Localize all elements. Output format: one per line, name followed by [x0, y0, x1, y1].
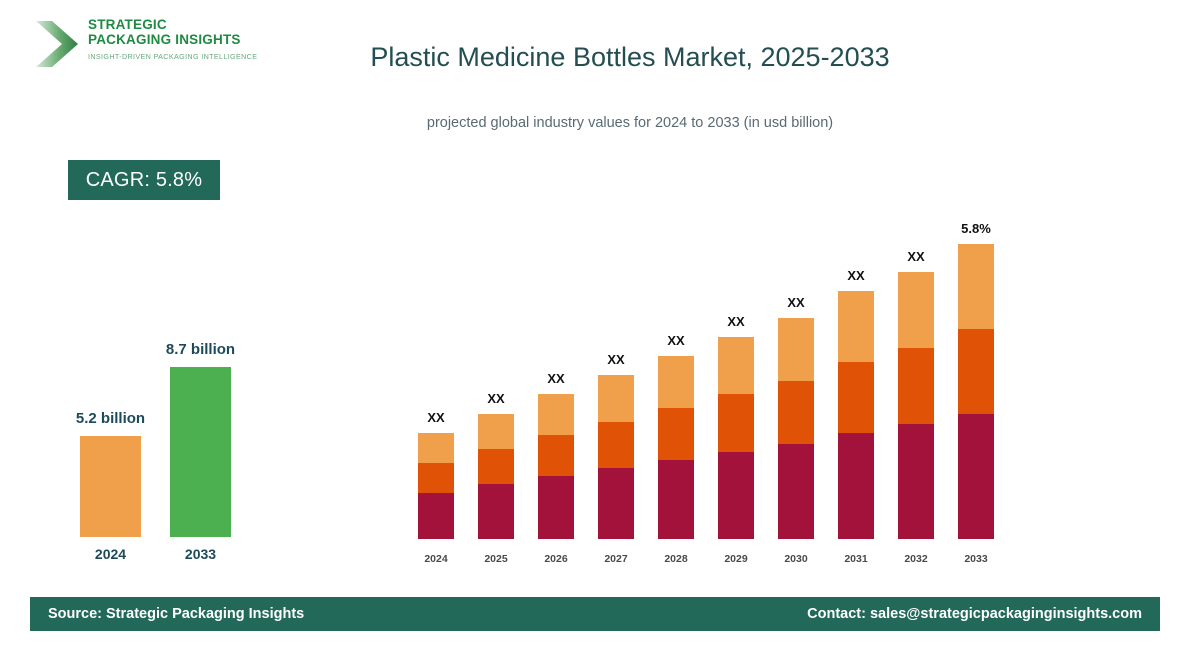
- stacked-bar-year-label: 2024: [418, 553, 454, 565]
- stacked-bar-segment: [958, 244, 994, 329]
- stacked-bar-top-label: XX: [826, 268, 886, 283]
- stacked-bar-top-label: XX: [766, 295, 826, 310]
- stacked-bar: [898, 272, 934, 539]
- stacked-bar-segment: [838, 291, 874, 362]
- stacked-bar-segment: [658, 408, 694, 460]
- comparison-bar: [80, 436, 141, 537]
- stacked-bar-year-label: 2030: [778, 553, 814, 565]
- stacked-bar-segment: [598, 468, 634, 539]
- stacked-bar-segment: [898, 272, 934, 348]
- stacked-bar-segment: [598, 375, 634, 421]
- stacked-bar-year-label: 2033: [958, 553, 994, 565]
- stacked-bar-year-label: 2028: [658, 553, 694, 565]
- stacked-bar-column: XX2027: [598, 190, 634, 565]
- comparison-bar-year: 2033: [150, 546, 251, 562]
- stacked-bar-top-label: XX: [526, 371, 586, 386]
- chevron-right-icon: [32, 18, 80, 70]
- stacked-bar-column: XX2024: [418, 190, 454, 565]
- stacked-bar-top-label: 5.8%: [946, 221, 1006, 236]
- comparison-bar-value: 8.7 billion: [142, 341, 259, 358]
- stacked-bar-segment: [598, 422, 634, 468]
- stacked-bar: [478, 414, 514, 539]
- logo-line-2: PACKAGING INSIGHTS: [88, 33, 257, 48]
- stacked-bar-top-label: XX: [646, 333, 706, 348]
- stacked-bar-column: XX2030: [778, 190, 814, 565]
- stacked-bar-year-label: 2029: [718, 553, 754, 565]
- stacked-bar-segment: [478, 484, 514, 539]
- stacked-bar-column: XX2025: [478, 190, 514, 565]
- logo-wordmark: STRATEGIC PACKAGING INSIGHTS INSIGHT-DRI…: [88, 18, 257, 61]
- stacked-bar-segment: [838, 433, 874, 539]
- stacked-bar-segment: [898, 424, 934, 539]
- stacked-bar-segment: [538, 476, 574, 539]
- comparison-chart: 5.2 billion20248.7 billion2033: [0, 300, 330, 580]
- stacked-bar-segment: [958, 329, 994, 414]
- stacked-bar-segment: [418, 493, 454, 539]
- stacked-bar-segment: [778, 381, 814, 444]
- stacked-bar-column: 5.8%2033: [958, 190, 994, 565]
- stacked-bar: [718, 337, 754, 539]
- stacked-bar: [418, 433, 454, 539]
- footer-source: Source: Strategic Packaging Insights: [48, 606, 304, 622]
- stacked-bar-segment: [838, 362, 874, 433]
- stacked-bar-column: XX2032: [898, 190, 934, 565]
- page-subtitle: projected global industry values for 202…: [300, 115, 960, 131]
- stacked-bar-top-label: XX: [706, 314, 766, 329]
- stacked-bar-segment: [898, 348, 934, 424]
- stacked-bar-top-label: XX: [586, 352, 646, 367]
- forecast-stacked-chart: XX2024XX2025XX2026XX2027XX2028XX2029XX20…: [400, 190, 1040, 565]
- stacked-bar: [598, 375, 634, 539]
- cagr-badge: CAGR: 5.8%: [68, 160, 220, 200]
- stacked-bar-segment: [718, 337, 754, 394]
- stacked-bar-segment: [658, 460, 694, 539]
- stacked-bar: [838, 291, 874, 539]
- stacked-bar-top-label: XX: [406, 410, 466, 425]
- logo-line-1: STRATEGIC: [88, 18, 257, 33]
- stacked-bar: [538, 394, 574, 539]
- footer-bar: Source: Strategic Packaging Insights Con…: [30, 597, 1160, 631]
- stacked-bar-segment: [478, 449, 514, 484]
- stacked-bar-column: XX2031: [838, 190, 874, 565]
- stacked-bar-column: XX2028: [658, 190, 694, 565]
- stacked-bar-year-label: 2025: [478, 553, 514, 565]
- stacked-bar-segment: [658, 356, 694, 408]
- stacked-bar-column: XX2026: [538, 190, 574, 565]
- brand-logo: STRATEGIC PACKAGING INSIGHTS INSIGHT-DRI…: [32, 16, 292, 78]
- stacked-bar-top-label: XX: [886, 249, 946, 264]
- stacked-bar-segment: [778, 318, 814, 381]
- stacked-bar-year-label: 2031: [838, 553, 874, 565]
- comparison-bar-value: 5.2 billion: [52, 410, 169, 427]
- stacked-bar-year-label: 2027: [598, 553, 634, 565]
- stacked-bar-segment: [538, 394, 574, 435]
- page-title: Plastic Medicine Bottles Market, 2025-20…: [300, 42, 960, 73]
- stacked-bar-segment: [958, 414, 994, 539]
- stacked-bar-segment: [718, 394, 754, 451]
- logo-tagline: INSIGHT-DRIVEN PACKAGING INTELLIGENCE: [88, 52, 257, 61]
- stacked-bar-segment: [718, 452, 754, 539]
- stacked-bar: [958, 244, 994, 539]
- stacked-bar-segment: [418, 433, 454, 463]
- stacked-bar-top-label: XX: [466, 391, 526, 406]
- stacked-bar-column: XX2029: [718, 190, 754, 565]
- stacked-bar-segment: [778, 444, 814, 539]
- stacked-bar: [658, 356, 694, 539]
- stacked-bar-segment: [538, 435, 574, 476]
- comparison-bar: [170, 367, 231, 537]
- footer-contact: Contact: sales@strategicpackaginginsight…: [807, 606, 1142, 622]
- stacked-bar-segment: [418, 463, 454, 493]
- stacked-bar-year-label: 2032: [898, 553, 934, 565]
- stacked-bar-year-label: 2026: [538, 553, 574, 565]
- comparison-bar-year: 2024: [60, 546, 161, 562]
- stacked-bar-segment: [478, 414, 514, 449]
- stacked-bar: [778, 318, 814, 539]
